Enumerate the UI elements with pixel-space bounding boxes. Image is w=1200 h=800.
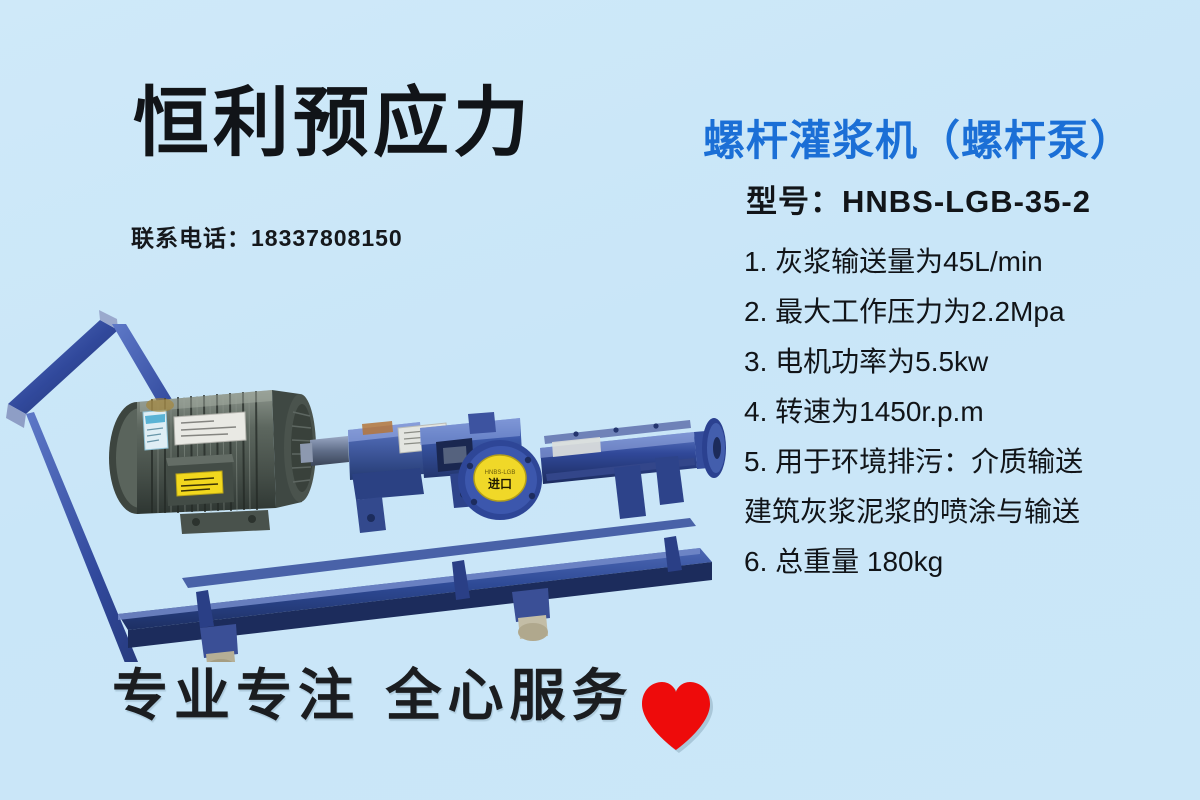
spec-item-6: 6. 总重量 180kg — [744, 548, 1196, 576]
spec-list: 1. 灰浆输送量为45L/min 2. 最大工作压力为2.2Mpa 3. 电机功… — [744, 248, 1196, 598]
spec-item-5-continued: 建筑灰浆泥浆的喷涂与输送 — [744, 498, 1196, 526]
brand-title: 恒利预应力 — [133, 86, 533, 162]
product-photo: HNBS-LGB 进口 — [0, 262, 742, 662]
spec-item-4: 4. 转速为1450r.p.m — [744, 398, 1196, 426]
heart-icon — [636, 678, 716, 754]
machine-illustration: HNBS-LGB 进口 — [0, 262, 742, 662]
inlet-label-text: 进口 — [488, 476, 512, 491]
product-title: 螺杆灌浆机（螺杆泵） — [703, 120, 1133, 162]
discharge-flange — [694, 418, 726, 478]
inlet-label-subtext: HNBS-LGB — [485, 470, 516, 476]
pump-stator — [540, 420, 697, 519]
product-model: 型号：HNBS-LGB-35-2 — [746, 186, 1091, 217]
spec-item-2: 2. 最大工作压力为2.2Mpa — [744, 298, 1196, 326]
slogan-text: 专业专注 全心服务 — [112, 668, 634, 724]
poster-canvas: HNBS-LGB 进口 — [0, 0, 1200, 800]
pump-inlet-flange: HNBS-LGB 进口 — [458, 440, 542, 520]
contact-phone: 联系电话：18337808150 — [131, 219, 403, 253]
electric-motor — [109, 390, 316, 534]
spec-item-5: 5. 用于环境排污：介质输送 — [744, 448, 1196, 476]
spec-item-3: 3. 电机功率为5.5kw — [744, 348, 1196, 376]
spec-item-1: 1. 灰浆输送量为45L/min — [744, 248, 1196, 276]
